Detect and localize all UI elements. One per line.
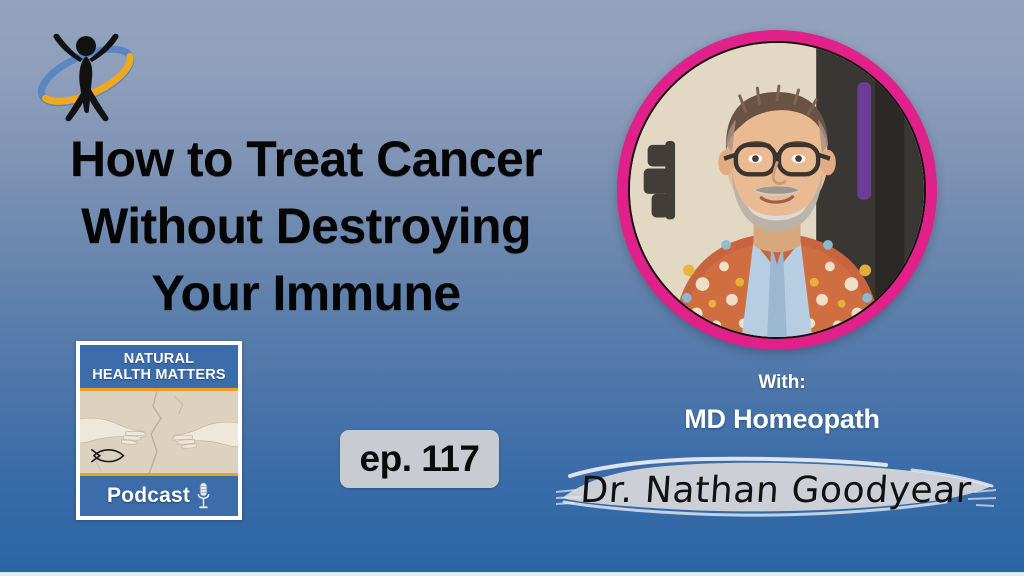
title-line-2: Without Destroying <box>16 193 596 260</box>
episode-title: How to Treat Cancer Without Destroying Y… <box>16 126 596 327</box>
microphone-icon <box>196 481 211 511</box>
album-inner: NATURAL HEALTH MATTERS <box>80 345 238 516</box>
podcast-episode-thumbnail: How to Treat Cancer Without Destroying Y… <box>0 0 1024 576</box>
album-footer: Podcast <box>80 476 238 516</box>
title-line-1: How to Treat Cancer <box>16 126 596 193</box>
guest-name: Dr. Nathan Goodyear <box>555 470 998 511</box>
episode-number-badge: ep. 117 <box>340 430 499 488</box>
guest-portrait <box>617 30 937 350</box>
podcast-album-art: NATURAL HEALTH MATTERS <box>76 341 242 520</box>
guest-portrait-photo <box>628 41 926 339</box>
album-title: NATURAL HEALTH MATTERS <box>80 345 238 388</box>
brand-logo <box>30 18 142 130</box>
album-title-line-1: NATURAL <box>124 351 194 367</box>
album-artwork-image <box>80 391 238 473</box>
with-label: With: <box>617 372 947 394</box>
episode-number-label: ep. 117 <box>360 438 480 480</box>
guest-name-brush-stroke: Dr. Nathan Goodyear <box>556 452 996 524</box>
guest-credential: MD Homeopath <box>617 404 947 435</box>
album-title-line-2: HEALTH MATTERS <box>92 367 226 383</box>
title-line-3: Your Immune <box>16 260 596 327</box>
album-footer-label: Podcast <box>107 484 190 508</box>
bottom-edge-strip <box>0 572 1024 576</box>
